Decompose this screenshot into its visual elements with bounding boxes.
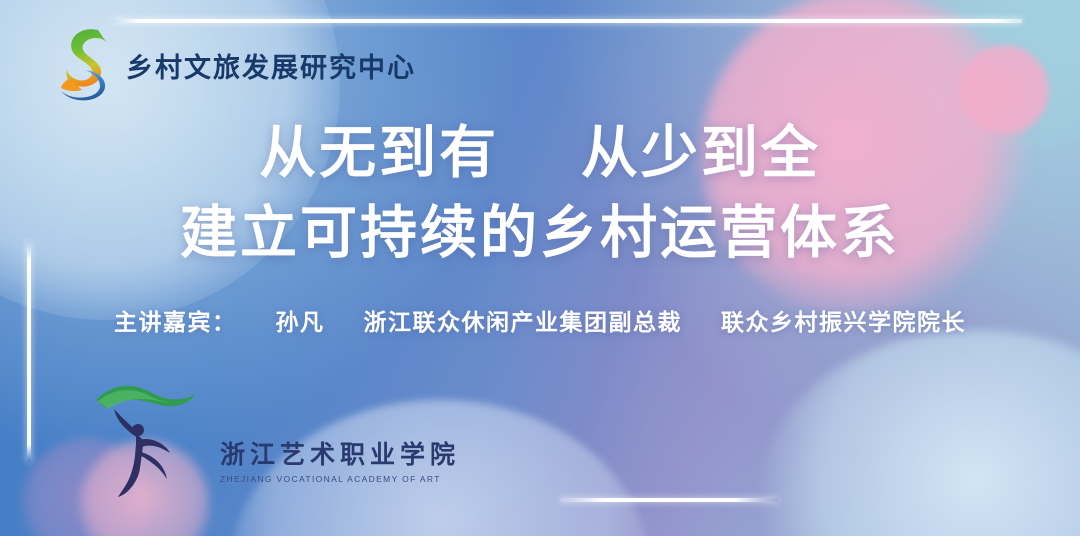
speaker-label: 主讲嘉宾：	[114, 310, 237, 336]
left-accent-line	[27, 240, 31, 462]
top-divider-line	[112, 19, 1022, 23]
organization-name: 乡村文旅发展研究中心	[126, 49, 416, 82]
speaker-title-2: 联众乡村振兴学院院长	[721, 310, 966, 336]
title-line-1: 从无到有 从少到全	[0, 118, 1080, 189]
speaker-name: 孙凡	[275, 310, 324, 336]
title-block: 从无到有 从少到全 建立可持续的乡村运营体系	[0, 118, 1080, 268]
bottom-accent-line	[560, 498, 778, 502]
speaker-line: 主讲嘉宾： 孙凡 浙江联众休闲产业集团副总裁 联众乡村振兴学院院长	[0, 303, 1080, 337]
blob-bottom-right	[760, 330, 1080, 536]
academy-name-en: ZHEJIANG VOCATIONAL ACADEMY OF ART	[220, 474, 460, 484]
academy-text-block: 浙江艺术职业学院 ZHEJIANG VOCATIONAL ACADEMY OF …	[220, 442, 460, 500]
poster-canvas: 乡村文旅发展研究中心 从无到有 从少到全 建立可持续的乡村运营体系 主讲嘉宾： …	[0, 0, 1080, 536]
title-line-1-part-2: 从少到全	[581, 120, 821, 186]
title-line-2: 建立可持续的乡村运营体系	[0, 198, 1080, 269]
speaker-title-1: 浙江联众休闲产业集团副总裁	[364, 310, 683, 336]
dancer-ribbon-logo-icon	[92, 378, 218, 500]
ribbon-swoosh-logo-icon	[56, 24, 118, 106]
academy-logo: 浙江艺术职业学院 ZHEJIANG VOCATIONAL ACADEMY OF …	[92, 378, 460, 500]
header-brand: 乡村文旅发展研究中心	[56, 24, 416, 106]
academy-name-cn: 浙江艺术职业学院	[220, 442, 460, 467]
title-line-1-part-1: 从无到有	[259, 120, 499, 186]
